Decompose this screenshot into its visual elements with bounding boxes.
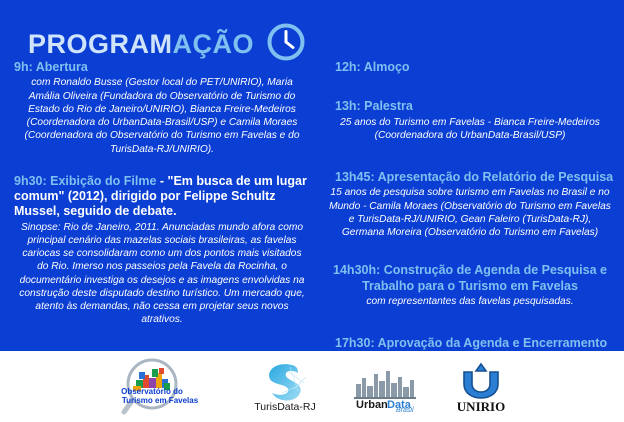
schedule-item-time-13h45: 13h45: Apresentação do Relatório de Pesq… bbox=[326, 170, 614, 185]
schedule-item-time-9h30: 9h30: Exibição do Filme - "Em busca de u… bbox=[14, 174, 310, 220]
schedule-column-right: 12h: Almoço 13h: Palestra 25 anos do Tur… bbox=[326, 60, 614, 360]
schedule-item-body-14h30: com representantes das favelas pesquisad… bbox=[326, 295, 614, 308]
svg-text:Observatório do: Observatório do bbox=[121, 387, 183, 396]
spacer bbox=[326, 248, 614, 263]
unirio-logo: UNIRIO bbox=[450, 360, 512, 414]
spacer bbox=[14, 165, 310, 174]
title-part-1: PROGRAM bbox=[28, 29, 173, 59]
title-text: PROGRAMAÇÃO bbox=[28, 31, 254, 58]
schedule-item-13h45: 13h45: Apresentação do Relatório de Pesq… bbox=[326, 170, 614, 239]
programacao-poster: PROGRAMAÇÃO 9h: Abertura com Ronaldo Bus… bbox=[0, 0, 624, 422]
turisdata-rj-logo: TurisData-RJ bbox=[248, 359, 322, 415]
urbandata-brasil-logo: Urban Data Brasil bbox=[350, 362, 422, 412]
schedule-item-14h30: 14h30h: Construção de Agenda de Pesquisa… bbox=[326, 263, 614, 308]
spacer bbox=[326, 84, 614, 99]
observatorio-turismo-favelas-logo: Observatório do Turismo em Favelas bbox=[112, 358, 220, 416]
schedule-item-13h: 13h: Palestra 25 anos do Turismo em Fave… bbox=[326, 99, 614, 142]
schedule-item-time-14h30: 14h30h: Construção de Agenda de Pesquisa… bbox=[326, 263, 614, 294]
schedule-item-time-13h: 13h: Palestra bbox=[326, 99, 614, 114]
svg-text:TurisData-RJ: TurisData-RJ bbox=[254, 401, 315, 413]
schedule-item-9h: 9h: Abertura com Ronaldo Busse (Gestor l… bbox=[14, 60, 310, 156]
schedule-item-body-13h: 25 anos do Turismo em Favelas - Bianca F… bbox=[326, 116, 614, 143]
spacer bbox=[326, 317, 614, 336]
schedule-item-time-9h: 9h: Abertura bbox=[14, 60, 310, 75]
schedule-item-time-9h30-label: 9h30: Exibição do Filme bbox=[14, 174, 156, 188]
schedule-column-left: 9h: Abertura com Ronaldo Busse (Gestor l… bbox=[14, 60, 310, 336]
schedule-item-12h: 12h: Almoço bbox=[326, 60, 614, 75]
schedule-item-time-17h30: 17h30: Aprovação da Agenda e Encerrament… bbox=[326, 336, 614, 351]
schedule-item-body-9h: com Ronaldo Busse (Gestor local do PET/U… bbox=[14, 76, 310, 156]
schedule-item-17h30: 17h30: Aprovação da Agenda e Encerrament… bbox=[326, 336, 614, 351]
schedule-item-body-13h45: 15 anos de pesquisa sobre turismo em Fav… bbox=[326, 186, 614, 239]
schedule-item-body-9h30: Sinopse: Rio de Janeiro, 2011. Anunciada… bbox=[14, 221, 310, 327]
svg-text:Brasil: Brasil bbox=[396, 407, 414, 412]
spacer bbox=[326, 151, 614, 170]
svg-text:Turismo em Favelas: Turismo em Favelas bbox=[122, 396, 199, 405]
schedule-item-9h30: 9h30: Exibição do Filme - "Em busca de u… bbox=[14, 174, 310, 327]
footer-logo-bar: Observatório do Turismo em Favelas bbox=[0, 351, 624, 422]
svg-text:UNIRIO: UNIRIO bbox=[457, 399, 505, 414]
schedule-item-time-12h: 12h: Almoço bbox=[326, 60, 614, 75]
svg-text:Urban: Urban bbox=[356, 399, 388, 411]
title-part-2: AÇÃO bbox=[173, 29, 255, 59]
